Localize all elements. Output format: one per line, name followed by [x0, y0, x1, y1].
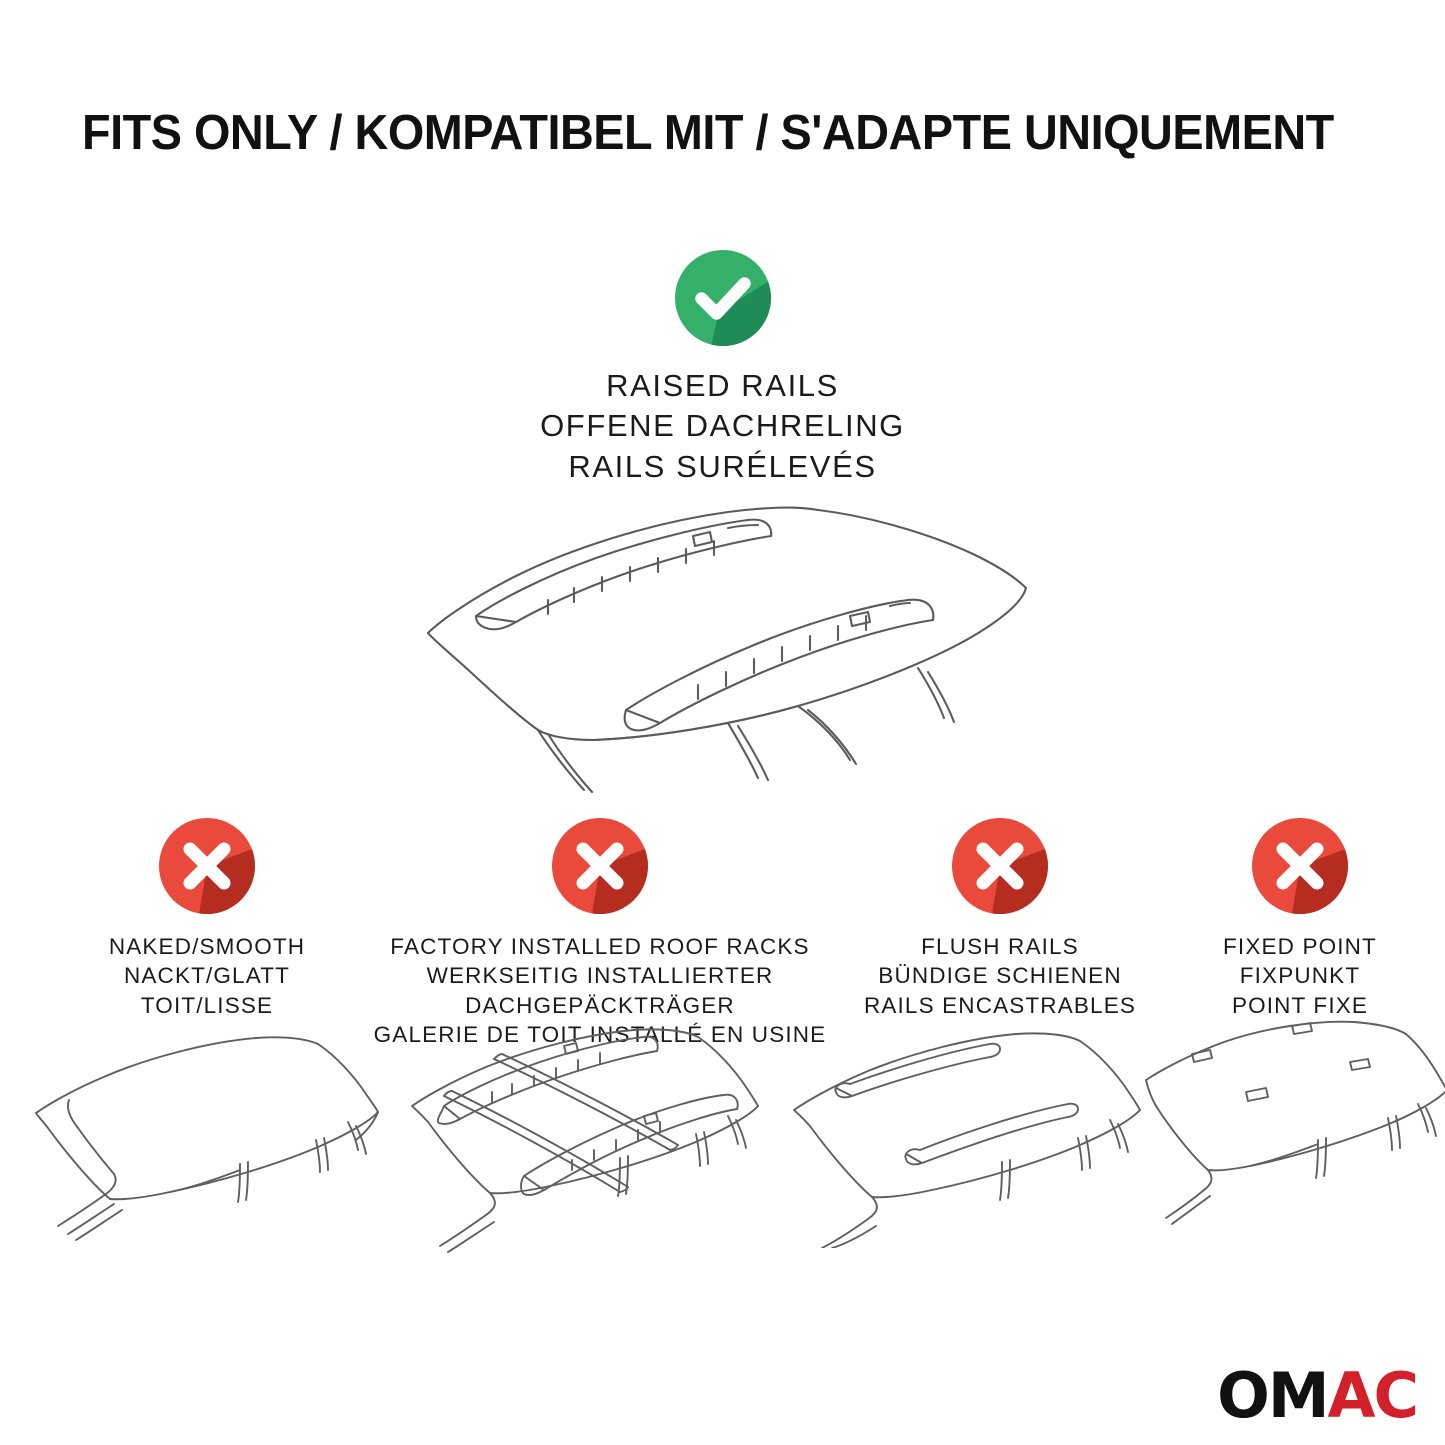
incompatible-item-flush-rails: FLUSH RAILS BÜNDIGE SCHIENEN RAILS ENCAS… [830, 818, 1170, 1020]
caption-line: FLUSH RAILS [830, 932, 1170, 961]
car-roof-with-flush-rails-illustration [778, 1018, 1148, 1248]
car-roof-with-raised-rails-illustration [398, 488, 1048, 798]
red-x-circle-icon [159, 818, 255, 914]
caption-line: FIXPUNKT [1155, 961, 1445, 990]
caption-line: POINT FIXE [1155, 991, 1445, 1020]
compatible-section: RAISED RAILS OFFENE DACHRELING RAILS SUR… [0, 250, 1445, 487]
omac-logo: OMAC [1217, 1365, 1417, 1427]
compatible-caption-line-3: RAILS SURÉLEVÉS [0, 447, 1445, 487]
caption-line: TOIT/LISSE [47, 991, 367, 1020]
caption-line: WERKSEITIG INSTALLIERTER [350, 961, 850, 990]
compatibility-infographic: FITS ONLY / KOMPATIBEL MIT / S'ADAPTE UN… [0, 0, 1445, 1445]
caption-line: DACHGEPÄCKTRÄGER [350, 991, 850, 1020]
logo-text-dark: OM [1217, 1359, 1327, 1432]
incompatible-item-fixed-point: FIXED POINT FIXPUNKT POINT FIXE [1155, 818, 1445, 1020]
car-roof-with-factory-crossbars-illustration [398, 1018, 768, 1254]
caption-line: NAKED/SMOOTH [47, 932, 367, 961]
car-roof-naked-smooth-illustration [18, 1018, 388, 1248]
caption-line: FACTORY INSTALLED ROOF RACKS [350, 932, 850, 961]
page-title: FITS ONLY / KOMPATIBEL MIT / S'ADAPTE UN… [82, 108, 1324, 159]
incompatible-caption-fixed-point: FIXED POINT FIXPUNKT POINT FIXE [1155, 932, 1445, 1020]
caption-line: NACKT/GLATT [47, 961, 367, 990]
logo-text-red: AC [1328, 1359, 1417, 1432]
compatible-caption-line-2: OFFENE DACHRELING [0, 406, 1445, 446]
compatible-caption: RAISED RAILS OFFENE DACHRELING RAILS SUR… [0, 366, 1445, 487]
car-roof-with-fixed-points-illustration [1140, 1018, 1445, 1248]
incompatible-caption-naked-smooth: NAKED/SMOOTH NACKT/GLATT TOIT/LISSE [47, 932, 367, 1020]
caption-line: RAILS ENCASTRABLES [830, 991, 1170, 1020]
incompatible-item-factory-installed-roof-racks: FACTORY INSTALLED ROOF RACKS WERKSEITIG … [350, 818, 850, 1049]
compatible-caption-line-1: RAISED RAILS [0, 366, 1445, 406]
caption-line: BÜNDIGE SCHIENEN [830, 961, 1170, 990]
red-x-circle-icon [552, 818, 648, 914]
incompatible-item-naked-smooth: NAKED/SMOOTH NACKT/GLATT TOIT/LISSE [47, 818, 367, 1020]
red-x-circle-icon [1252, 818, 1348, 914]
caption-line: FIXED POINT [1155, 932, 1445, 961]
incompatible-caption-flush-rails: FLUSH RAILS BÜNDIGE SCHIENEN RAILS ENCAS… [830, 932, 1170, 1020]
red-x-circle-icon [952, 818, 1048, 914]
green-check-circle-icon [675, 250, 771, 346]
